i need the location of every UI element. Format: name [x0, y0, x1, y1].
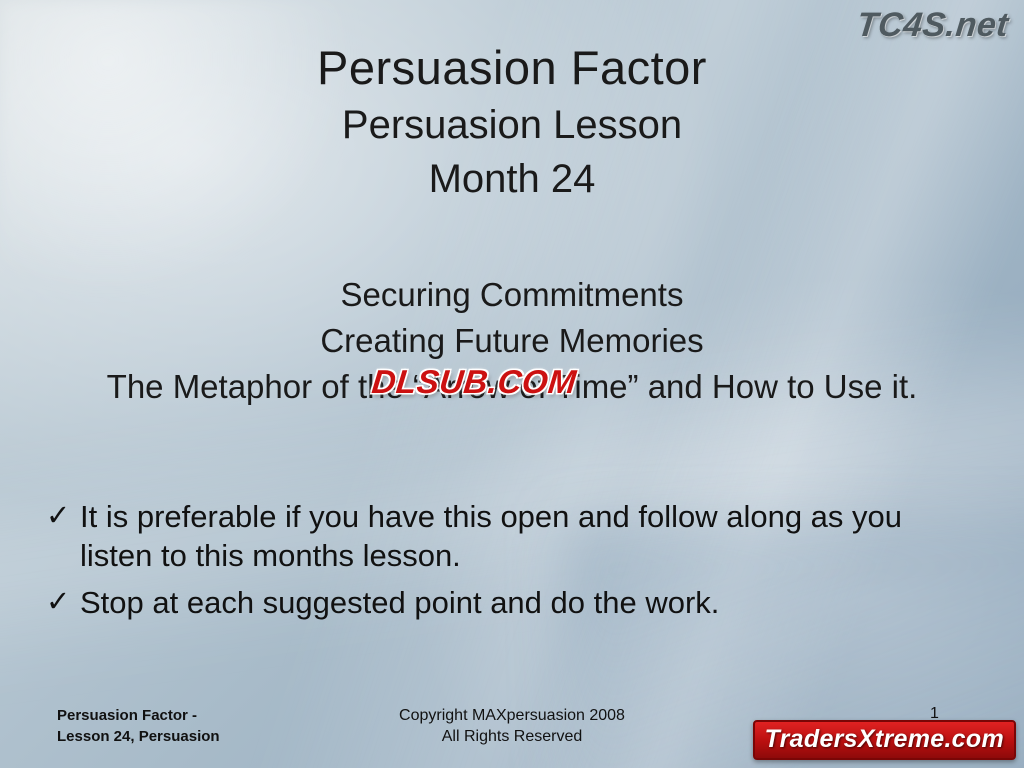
list-item-text: It is preferable if you have this open a…	[80, 497, 976, 575]
bullet-list: ✓ It is preferable if you have this open…	[46, 497, 976, 630]
subtitle-line-2: Creating Future Memories	[0, 318, 1024, 364]
presentation-slide: TC4S.net Persuasion Factor Persuasion Le…	[0, 0, 1024, 768]
check-icon: ✓	[46, 583, 80, 622]
footer-copyright-line-1: Copyright MAXpersuasion 2008	[399, 707, 625, 724]
subtitle-line-1: Securing Commitments	[0, 272, 1024, 318]
list-item: ✓ It is preferable if you have this open…	[46, 497, 976, 575]
list-item-text: Stop at each suggested point and do the …	[80, 583, 976, 622]
slide-title: Persuasion Factor Persuasion Lesson Mont…	[0, 38, 1024, 206]
title-line-1: Persuasion Factor	[0, 38, 1024, 98]
title-line-2: Persuasion Lesson	[0, 98, 1024, 152]
title-line-3: Month 24	[0, 152, 1024, 206]
list-item: ✓ Stop at each suggested point and do th…	[46, 583, 976, 622]
watermark-tradersxtreme: TradersXtreme.com	[753, 720, 1016, 760]
watermark-dlsub: DLSUB.COM	[370, 363, 578, 401]
check-icon: ✓	[46, 497, 80, 536]
